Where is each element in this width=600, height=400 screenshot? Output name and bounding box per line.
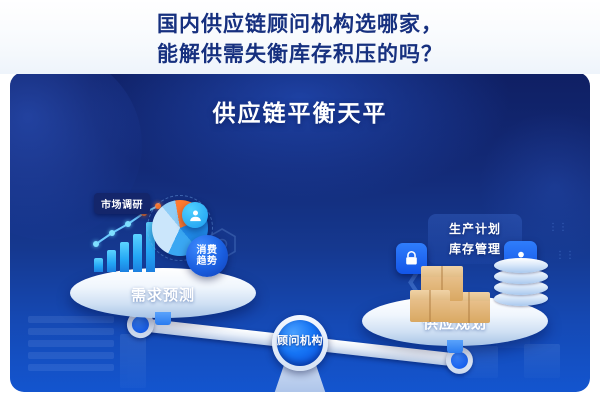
header-title-line-2: 能解供需失衡库存积压的吗？ xyxy=(0,38,600,68)
page-header: 国内供应链顾问机构选哪家， 能解供需失衡库存积压的吗？ xyxy=(0,0,600,74)
carton-box-left xyxy=(410,290,450,322)
header-title-line-1: 国内供应链顾问机构选哪家， xyxy=(0,8,600,38)
plan-box-line-1: 生产计划 xyxy=(428,219,522,239)
user-glyph-icon xyxy=(188,208,203,223)
lock-glyph-icon xyxy=(403,250,420,267)
right-pan-stem xyxy=(447,340,463,353)
spark-dot-1 xyxy=(93,241,99,247)
database-stack-icon xyxy=(494,256,548,306)
tick-decor-2: ⋮⋮ xyxy=(555,250,575,261)
spark-dot-2 xyxy=(109,230,115,236)
fulcrum-pivot[interactable]: 顾问机构 xyxy=(272,315,328,371)
tick-decor-1: ⋮⋮ xyxy=(548,222,568,233)
left-pan-stem xyxy=(155,312,171,325)
panel-main-title: 供应链平衡天平 xyxy=(10,94,590,128)
left-pan-label: 需求预测 xyxy=(70,284,256,305)
infographic-panel: ❮ ⋮⋮ ⋮⋮ 供应链平衡天平 顾问机构 需求预测 市场调研 xyxy=(10,72,590,392)
market-research-tag[interactable]: 市场调研 xyxy=(94,193,150,214)
fulcrum-label: 顾问机构 xyxy=(272,332,328,348)
consumer-trend-badge[interactable]: 消费 趋势 xyxy=(186,235,228,277)
trend-badge-line-2: 趋势 xyxy=(197,256,218,267)
left-pan: 需求预测 xyxy=(70,268,256,318)
user-icon[interactable] xyxy=(182,202,208,228)
spark-dot-3 xyxy=(125,221,131,227)
trend-badge-line-1: 消费 xyxy=(197,245,218,256)
